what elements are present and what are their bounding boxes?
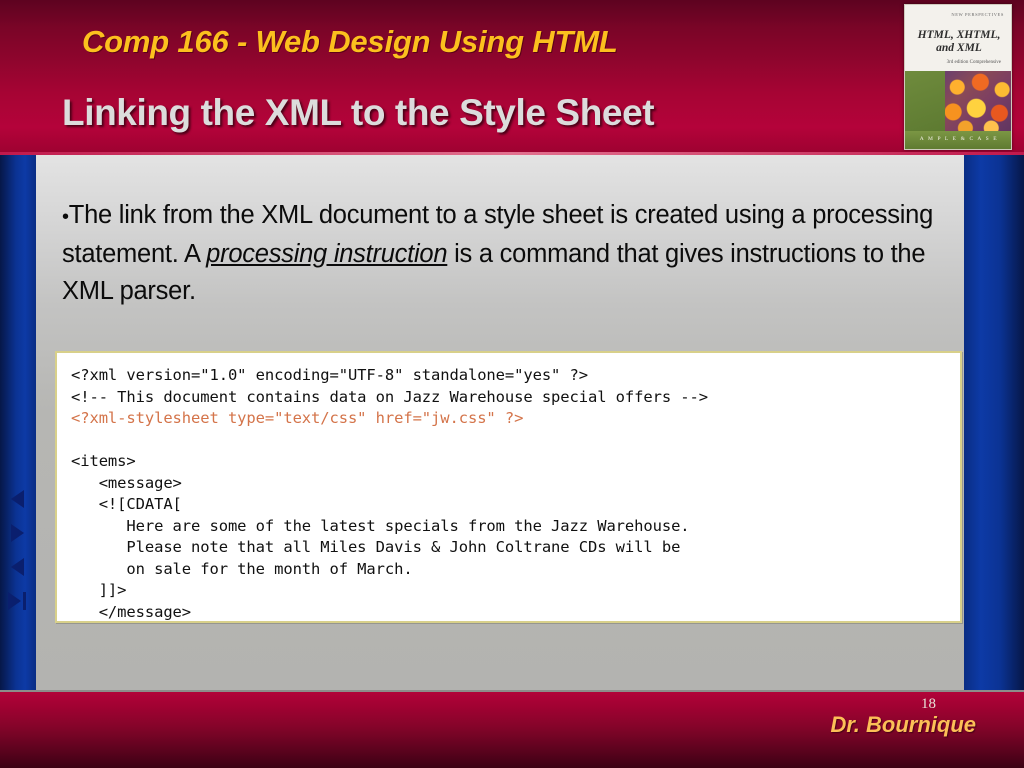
code-example-box: <?xml version="1.0" encoding="UTF-8" sta… <box>55 351 962 623</box>
triangle-left-icon <box>11 490 24 508</box>
first-slide-button[interactable] <box>4 550 30 584</box>
slide-footer: 18 Dr. Bournique <box>0 690 1024 768</box>
code-line-12: </message> <box>71 603 191 621</box>
last-slide-button[interactable] <box>4 584 30 618</box>
triangle-right-icon <box>11 524 24 542</box>
book-cover-green-panel <box>905 71 945 133</box>
code-listing: <?xml version="1.0" encoding="UTF-8" sta… <box>71 365 960 623</box>
bullet-emphasis-term: processing instruction <box>206 240 447 268</box>
code-line-10: on sale for the month of March. <box>71 560 413 578</box>
code-line-3-stylesheet: <?xml-stylesheet type="text/css" href="j… <box>71 409 523 427</box>
code-line-8: Here are some of the latest specials fro… <box>71 517 690 535</box>
code-line-5: <items> <box>71 452 136 470</box>
slide-content-area: •The link from the XML document to a sty… <box>36 155 964 690</box>
triangle-right-end-icon <box>8 592 26 610</box>
bullet-marker: • <box>62 206 69 228</box>
presenter-name: Dr. Bournique <box>831 712 976 738</box>
code-line-11: ]]> <box>71 581 126 599</box>
slide-header: Comp 166 - Web Design Using HTML Linking… <box>0 0 1024 155</box>
page-number: 18 <box>921 696 936 713</box>
next-slide-button[interactable] <box>4 516 30 550</box>
page-title: Linking the XML to the Style Sheet <box>62 92 654 134</box>
code-line-1: <?xml version="1.0" encoding="UTF-8" sta… <box>71 366 588 384</box>
slide: Comp 166 - Web Design Using HTML Linking… <box>0 0 1024 768</box>
code-line-9: Please note that all Miles Davis & John … <box>71 538 680 556</box>
book-cover-image: NEW PERSPECTIVES HTML, XHTML, and XML 3r… <box>904 4 1012 150</box>
book-cover-bottom-bar: A M P L E & C A S E <box>905 131 1012 149</box>
code-line-2: <!-- This document contains data on Jazz… <box>71 388 708 406</box>
course-title: Comp 166 - Web Design Using HTML <box>82 24 618 60</box>
bullet-paragraph: •The link from the XML document to a sty… <box>62 197 942 310</box>
code-line-6: <message> <box>71 474 182 492</box>
code-line-7: <![CDATA[ <box>71 495 182 513</box>
book-title-label: HTML, XHTML, and XML <box>913 29 1005 55</box>
book-subtitle-label: 3rd edition Comprehensive <box>947 59 1001 66</box>
book-publisher-label: NEW PERSPECTIVES <box>951 12 1004 17</box>
previous-slide-button[interactable] <box>4 482 30 516</box>
slide-navigation-controls[interactable] <box>4 482 32 618</box>
triangle-left-start-icon <box>11 558 24 576</box>
book-cover-floral-art <box>945 71 1012 133</box>
book-cover-bottom-label: A M P L E & C A S E <box>905 136 1012 142</box>
